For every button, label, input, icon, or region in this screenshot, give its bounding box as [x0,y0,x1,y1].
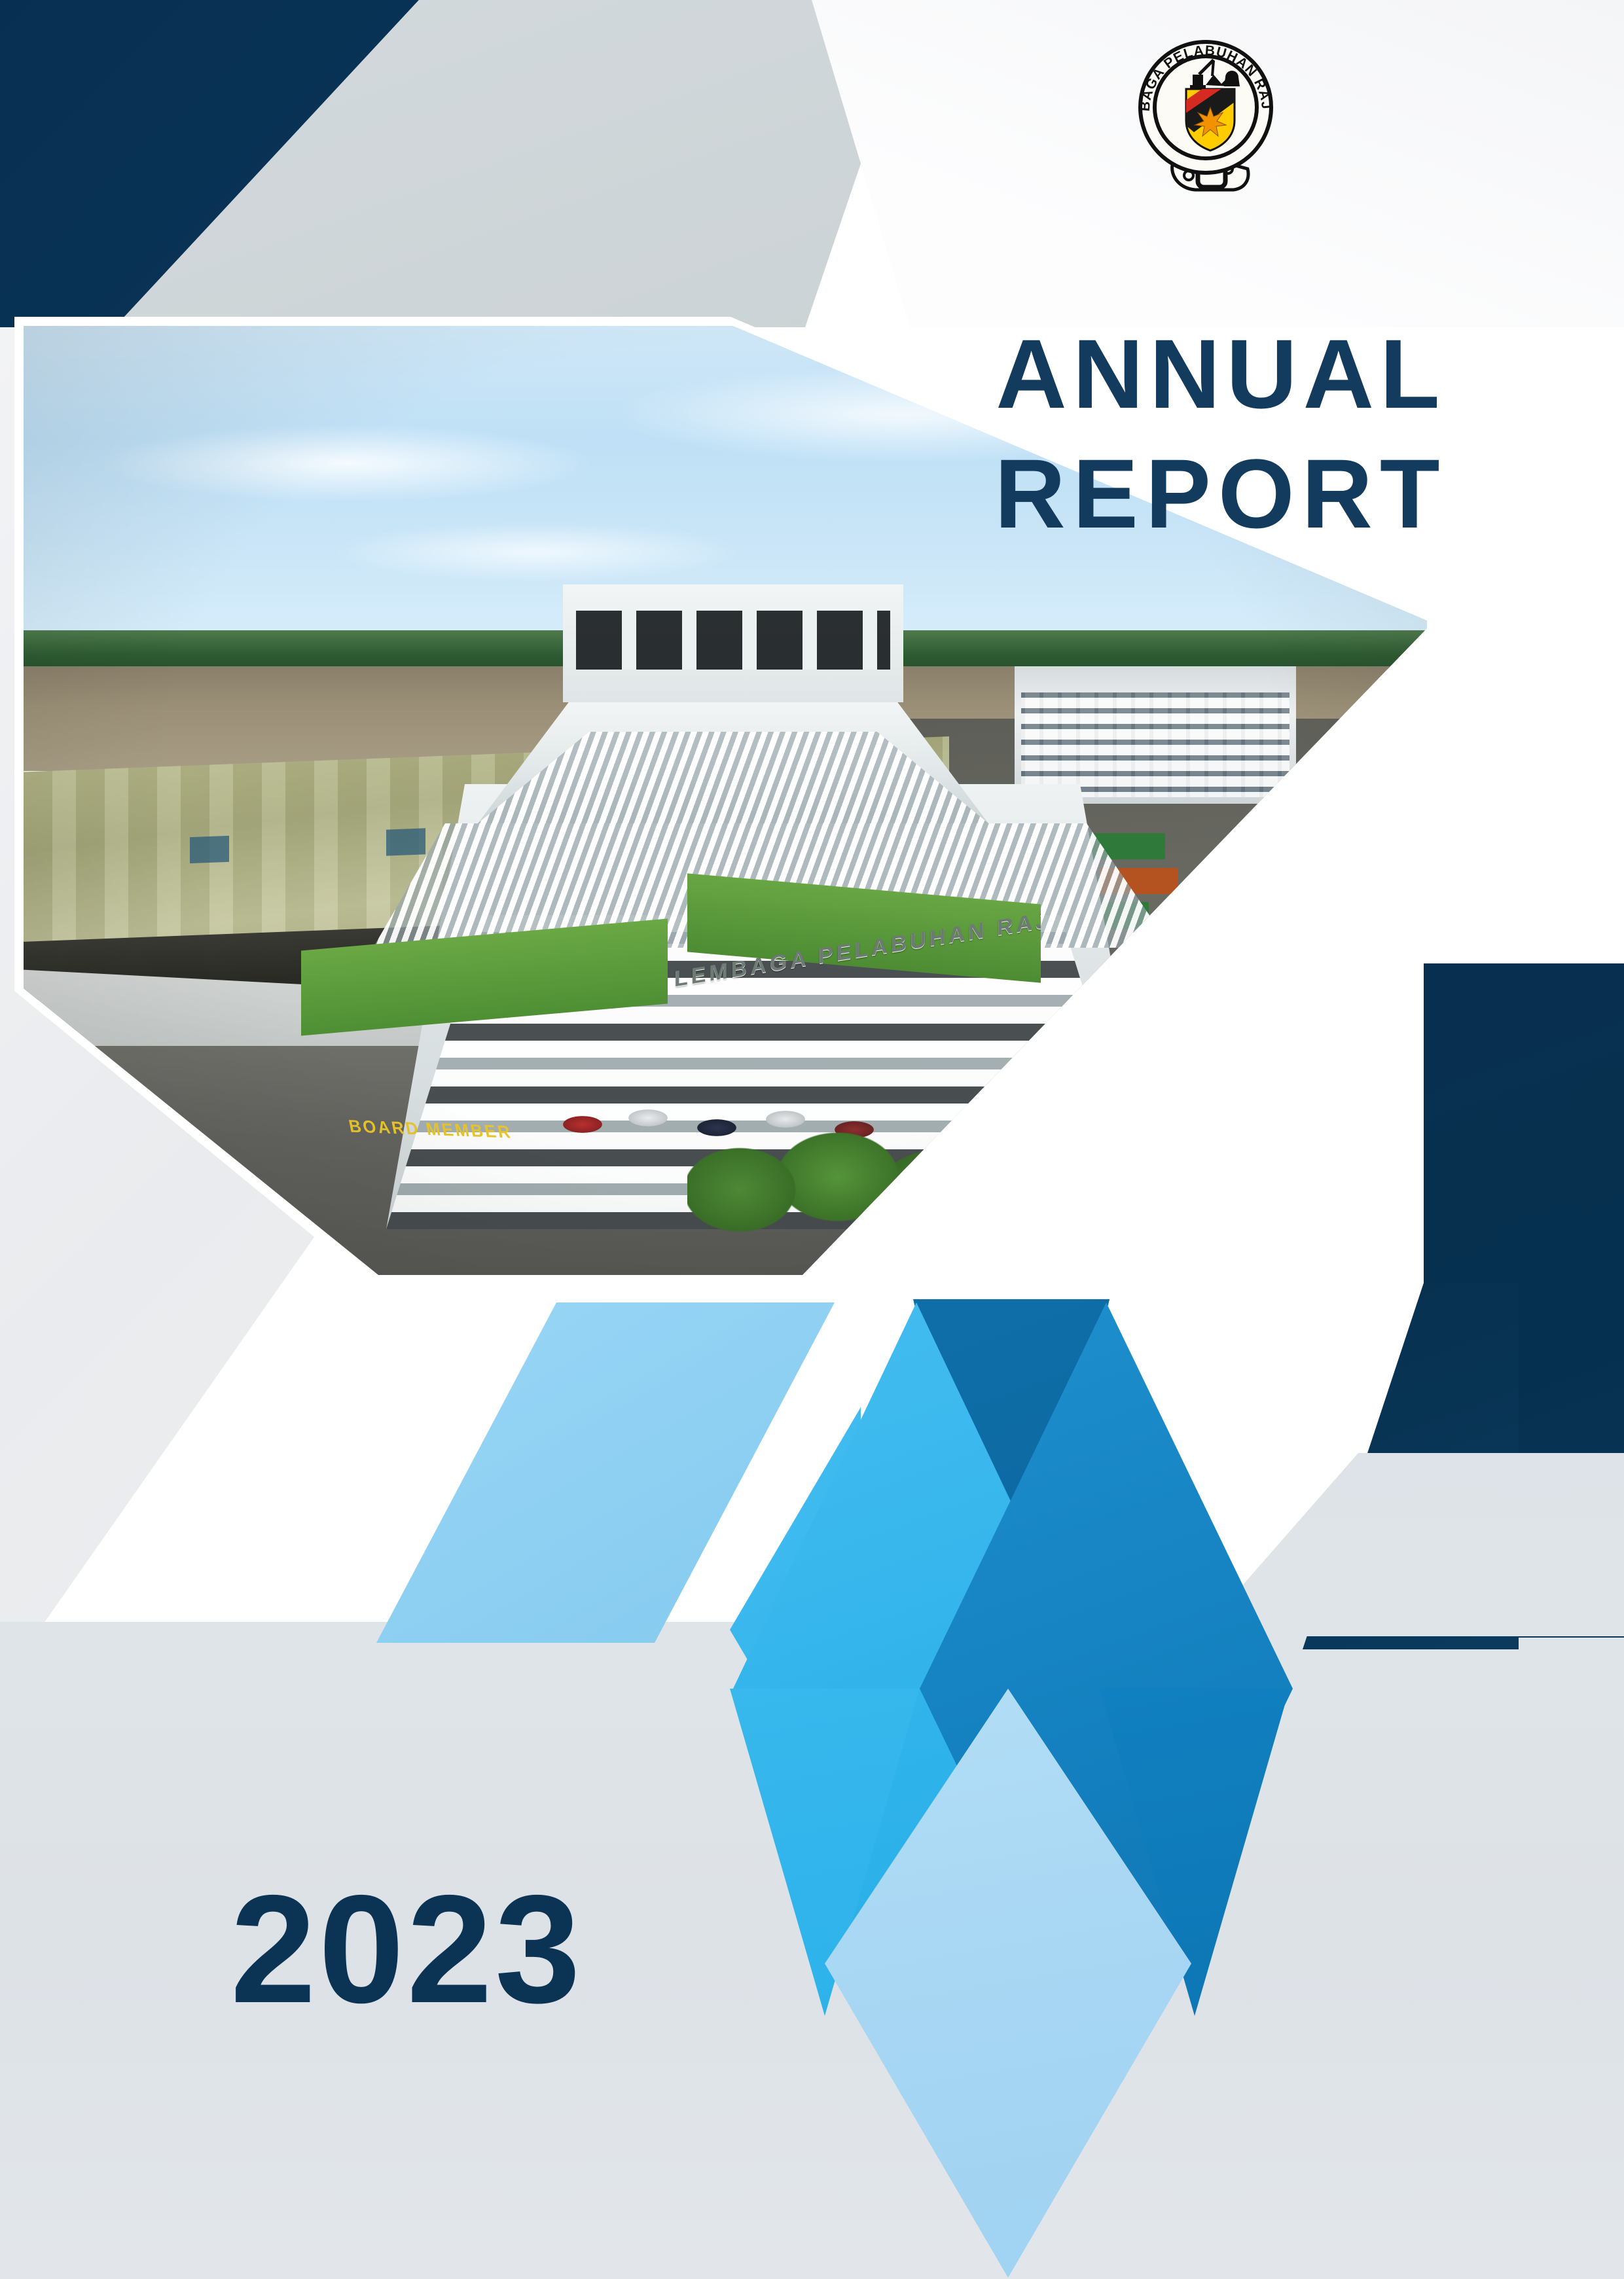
organization-logo: LEMBAGA PELABUHAN RAJANG [1135,34,1276,198]
title-line-report: REPORT [871,434,1571,554]
annual-report-cover-page: LEMBAGA PELABUHAN RAJANG BOARD MEMBER SI… [0,0,1624,2279]
crane-housing-icon [1193,75,1203,85]
grey-panel-bottom-right [1198,1453,1624,1636]
title-line-annual: ANNUAL [871,314,1571,434]
cover-title-block: ANNUAL REPORT [871,314,1571,554]
cover-year: 2023 [230,1872,583,2026]
